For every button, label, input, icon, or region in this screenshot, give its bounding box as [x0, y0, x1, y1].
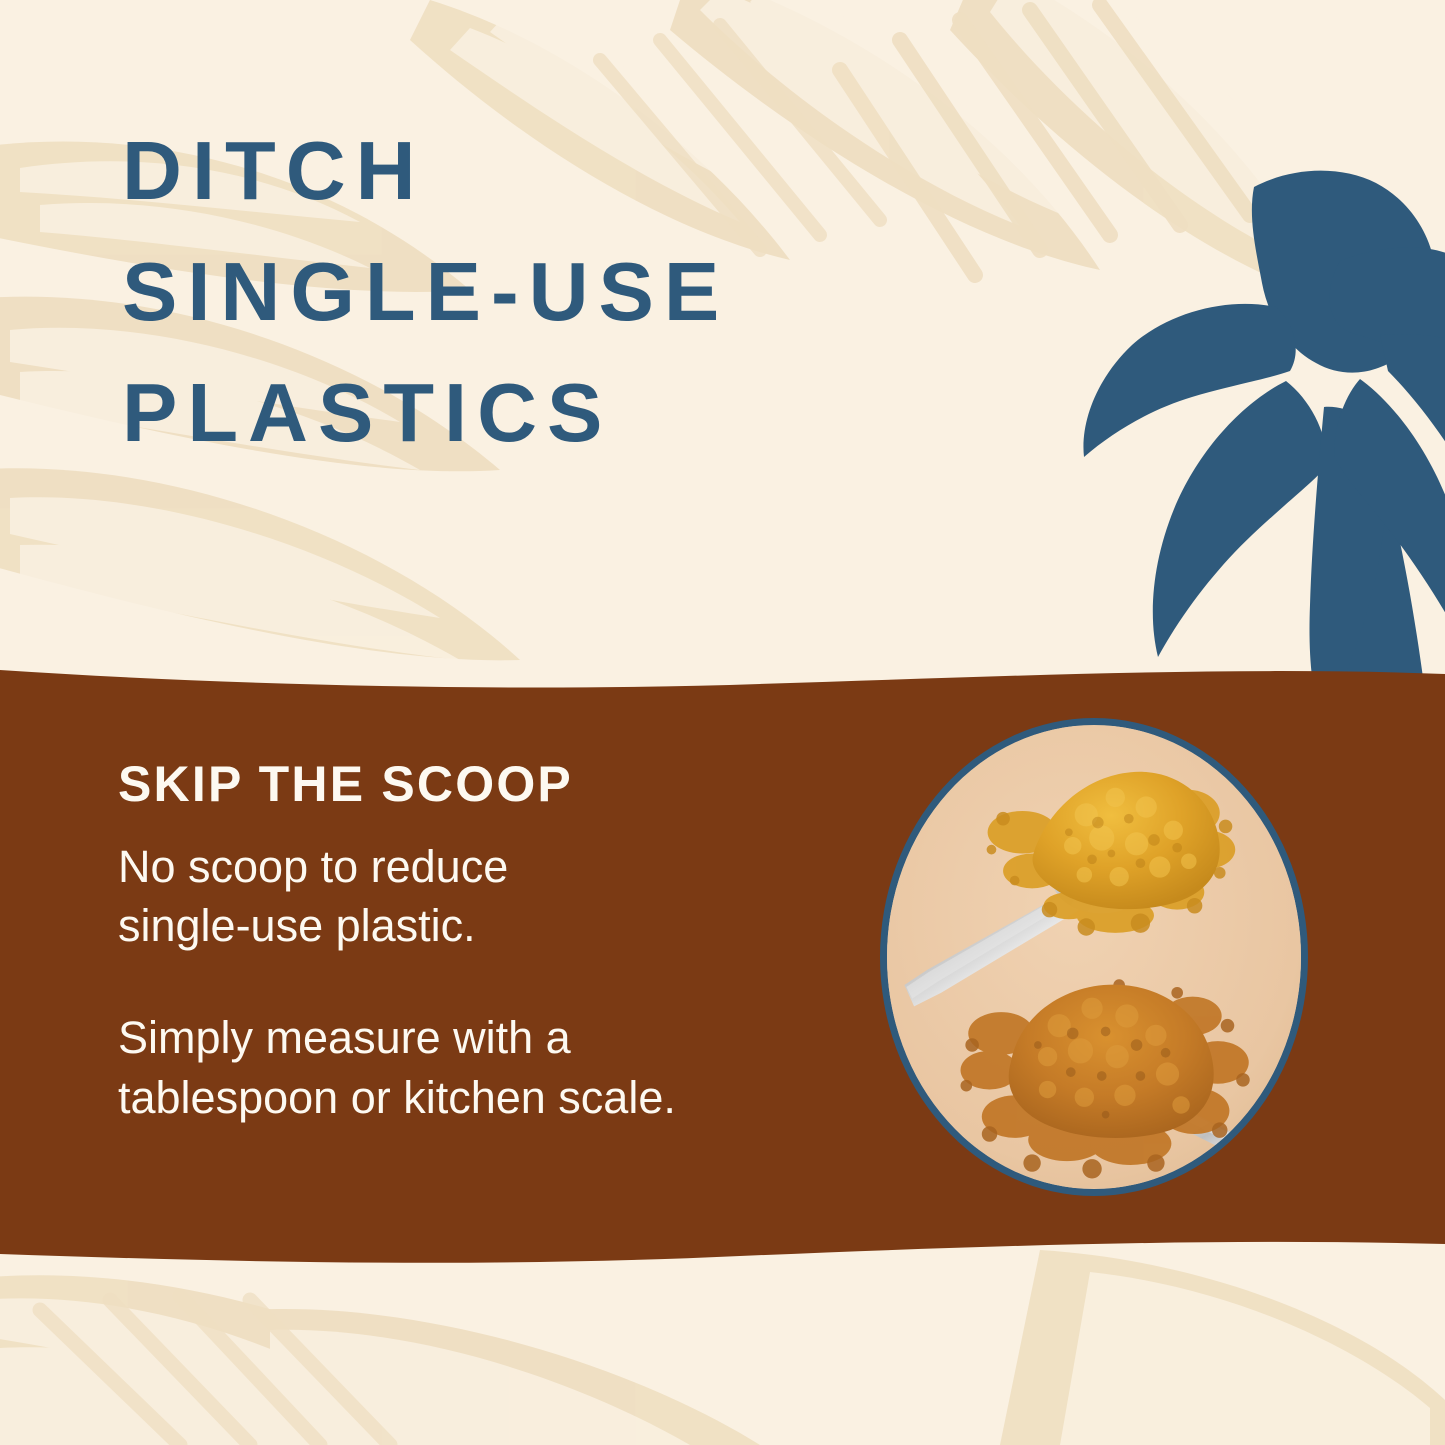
band-copy-block: SKIP THE SCOOP No scoop to reduce single…	[118, 758, 878, 1128]
band-title: SKIP THE SCOOP	[118, 758, 878, 811]
band-paragraph-one: No scoop to reduce single-use plastic.	[118, 837, 878, 957]
spice-spoons-photo	[880, 718, 1308, 1196]
poster-canvas: DITCH SINGLE-USE PLASTICS SKIP THE SCOOP…	[0, 0, 1445, 1445]
page-title: DITCH SINGLE-USE PLASTICS	[122, 110, 1082, 474]
band-paragraph-two: Simply measure with a tablespoon or kitc…	[118, 1008, 878, 1128]
